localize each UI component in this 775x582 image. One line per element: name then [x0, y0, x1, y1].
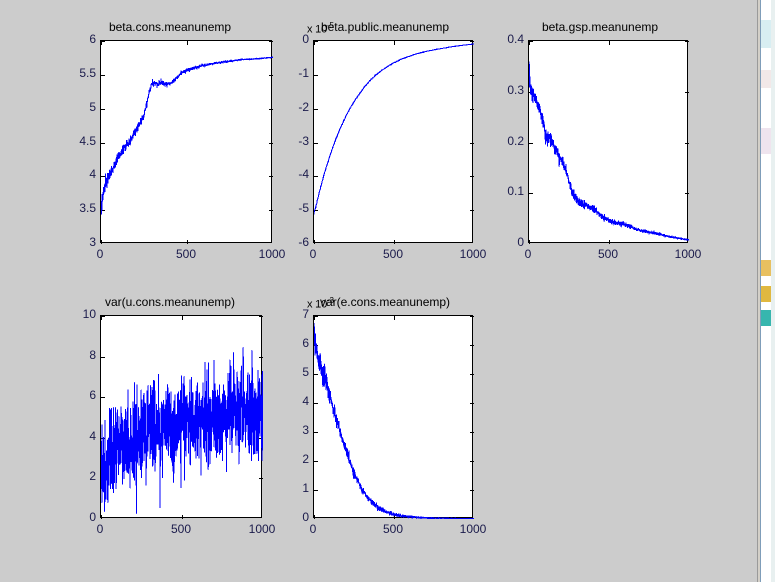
y-tick-label: 3.5 [52, 201, 96, 215]
x-tick-label: 0 [283, 522, 343, 536]
y-tick-label: 3 [265, 423, 309, 437]
exponent-mantissa: x 10 [307, 299, 327, 311]
y-tick-label: 10 [52, 307, 96, 321]
matlab-figure-canvas[interactable]: beta.cons.meanunemp 33.544.555.560500100… [0, 0, 758, 582]
y-tick-label: -2 [265, 100, 309, 114]
y-tick-label: 4 [52, 167, 96, 181]
x-tick-label: 500 [156, 247, 216, 261]
y-tick-label: 1 [265, 481, 309, 495]
subplot-var-e-cons-meanunemp[interactable]: var(e.cons.meanunemp) x 10-3 01234567050… [265, 295, 505, 545]
y-tick-label: 4 [52, 429, 96, 443]
axes-box [100, 315, 262, 518]
trace-line [529, 41, 689, 244]
y-tick-label: 0.1 [480, 184, 524, 198]
y-tick-label: 2 [265, 452, 309, 466]
axes-box [313, 40, 473, 243]
x-tick-label: 1000 [658, 247, 718, 261]
exponent-power: -5 [327, 21, 334, 30]
y-tick-label: 0 [265, 32, 309, 46]
screen-root: beta.cons.meanunemp 33.544.555.560500100… [0, 0, 775, 582]
axes-box [528, 40, 688, 243]
axes-box [313, 315, 473, 518]
y-tick-label: 5 [265, 365, 309, 379]
x-tick-label: 500 [363, 522, 423, 536]
y-tick-label: 0.4 [480, 32, 524, 46]
x-tick-label: 0 [498, 247, 558, 261]
y-tick-label: 7 [265, 307, 309, 321]
y-tick-label: -5 [265, 201, 309, 215]
x-tick-label: 500 [363, 247, 423, 261]
y-tick-label: 6 [265, 336, 309, 350]
y-tick-label: -3 [265, 134, 309, 148]
axis-exponent-label: x 10-5 [307, 21, 334, 36]
trace-line [101, 41, 273, 244]
trace-line [314, 41, 474, 244]
trace-line [101, 316, 263, 519]
y-tick-label: 5 [52, 100, 96, 114]
x-tick-label: 0 [70, 522, 130, 536]
x-tick-label: 0 [283, 247, 343, 261]
subplot-var-u-cons-meanunemp[interactable]: var(u.cons.meanunemp) 024681005001000 [50, 295, 290, 545]
exponent-power: -3 [327, 296, 334, 305]
y-tick-label: 6 [52, 388, 96, 402]
y-tick-label: 4 [265, 394, 309, 408]
subplot-beta-gsp-meanunemp[interactable]: beta.gsp.meanunemp 00.10.20.30.405001000 [480, 20, 720, 270]
x-tick-label: 500 [151, 522, 211, 536]
y-tick-label: 0.2 [480, 134, 524, 148]
exponent-mantissa: x 10 [307, 24, 327, 36]
y-tick-label: 0.3 [480, 83, 524, 97]
y-tick-label: 2 [52, 469, 96, 483]
x-tick-label: 0 [70, 247, 130, 261]
y-tick-label: -4 [265, 167, 309, 181]
background-window-scrollbar[interactable] [771, 0, 775, 582]
x-tick-label: 1000 [443, 522, 503, 536]
y-tick-label: 8 [52, 348, 96, 362]
x-tick-label: 500 [578, 247, 638, 261]
y-tick-label: 6 [52, 32, 96, 46]
axis-exponent-label: x 10-3 [307, 296, 334, 311]
y-tick-label: 5.5 [52, 66, 96, 80]
y-tick-label: -1 [265, 66, 309, 80]
y-tick-label: 4.5 [52, 134, 96, 148]
trace-line [314, 316, 474, 519]
subplot-beta-cons-meanunemp[interactable]: beta.cons.meanunemp 33.544.555.560500100… [50, 20, 290, 270]
background-window[interactable] [758, 0, 775, 582]
axes-box [100, 40, 272, 243]
subplot-beta-public-meanunemp[interactable]: beta.public.meanunemp x 10-5 -6-5-4-3-2-… [265, 20, 505, 270]
